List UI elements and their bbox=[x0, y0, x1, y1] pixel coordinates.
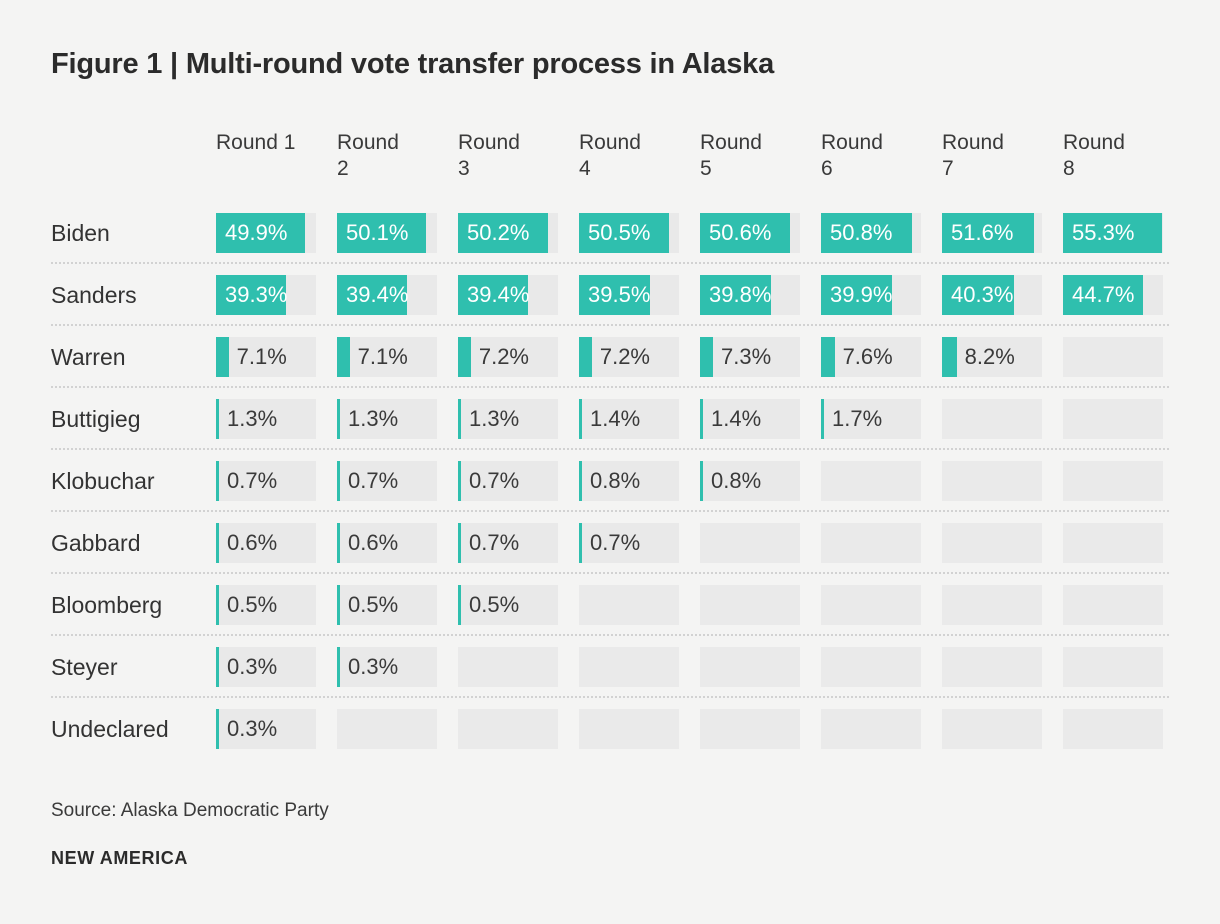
bar-cell: 39.3% bbox=[216, 275, 316, 315]
bar-cell bbox=[821, 523, 921, 563]
bar-fill bbox=[216, 709, 219, 749]
bar-cell bbox=[942, 585, 1042, 625]
table-row: Gabbard0.6%0.6%0.7%0.7% bbox=[51, 512, 1169, 574]
bar-cell: 39.4% bbox=[337, 275, 437, 315]
bar-cell: 8.2% bbox=[942, 337, 1042, 377]
bar-value-label: 49.9% bbox=[216, 213, 287, 253]
bar-value-label: 7.1% bbox=[358, 337, 408, 377]
row-label-sanders: Sanders bbox=[51, 282, 216, 309]
bar-fill bbox=[458, 585, 461, 625]
bar-value-label: 1.7% bbox=[832, 399, 882, 439]
bar-value-label: 50.1% bbox=[337, 213, 408, 253]
row-label-biden: Biden bbox=[51, 220, 216, 247]
bar-cell: 39.4% bbox=[458, 275, 558, 315]
bar-value-label: 50.2% bbox=[458, 213, 529, 253]
bar-fill bbox=[337, 647, 340, 687]
bar-cell bbox=[821, 709, 921, 749]
row-label-klobuchar: Klobuchar bbox=[51, 468, 216, 495]
bar-cell: 50.5% bbox=[579, 213, 679, 253]
bar-cell: 0.7% bbox=[458, 461, 558, 501]
bar-value-label: 39.4% bbox=[337, 275, 408, 315]
bar-cell bbox=[821, 585, 921, 625]
table-row: Warren7.1%7.1%7.2%7.2%7.3%7.6%8.2% bbox=[51, 326, 1169, 388]
bar-fill bbox=[579, 523, 582, 563]
bar-cell: 1.3% bbox=[458, 399, 558, 439]
bar-cell: 0.3% bbox=[216, 647, 316, 687]
bar-cell: 7.1% bbox=[337, 337, 437, 377]
bar-cell bbox=[579, 585, 679, 625]
bar-cell: 0.7% bbox=[458, 523, 558, 563]
column-header-round-1: Round 1 bbox=[216, 130, 316, 156]
bar-value-label: 50.5% bbox=[579, 213, 650, 253]
table-row: Undeclared0.3% bbox=[51, 698, 1169, 760]
column-header-round-2: Round 2 bbox=[337, 130, 437, 182]
bar-value-label: 40.3% bbox=[942, 275, 1013, 315]
bar-cell: 50.1% bbox=[337, 213, 437, 253]
bar-cell: 50.2% bbox=[458, 213, 558, 253]
bar-cell: 7.2% bbox=[579, 337, 679, 377]
bar-cell: 44.7% bbox=[1063, 275, 1163, 315]
bar-fill bbox=[458, 461, 461, 501]
row-label-gabbard: Gabbard bbox=[51, 530, 216, 557]
bar-cell: 7.3% bbox=[700, 337, 800, 377]
row-label-bloomberg: Bloomberg bbox=[51, 592, 216, 619]
bar-value-label: 8.2% bbox=[965, 337, 1015, 377]
bar-value-label: 1.4% bbox=[711, 399, 761, 439]
bar-cell bbox=[942, 647, 1042, 687]
bar-value-label: 55.3% bbox=[1063, 213, 1134, 253]
bar-value-label: 7.3% bbox=[721, 337, 771, 377]
bar-value-label: 0.5% bbox=[227, 585, 277, 625]
bar-cell bbox=[337, 709, 437, 749]
bar-cell: 0.8% bbox=[700, 461, 800, 501]
bar-cell: 1.3% bbox=[216, 399, 316, 439]
column-header-round-4: Round 4 bbox=[579, 130, 679, 182]
table-row: Klobuchar0.7%0.7%0.7%0.8%0.8% bbox=[51, 450, 1169, 512]
bar-cell: 39.5% bbox=[579, 275, 679, 315]
bar-cell bbox=[1063, 461, 1163, 501]
bar-cell bbox=[700, 585, 800, 625]
bar-cell bbox=[942, 523, 1042, 563]
bar-cell bbox=[1063, 337, 1163, 377]
bar-cell: 1.4% bbox=[579, 399, 679, 439]
bar-cell: 0.8% bbox=[579, 461, 679, 501]
bar-cell: 50.6% bbox=[700, 213, 800, 253]
bar-cell: 51.6% bbox=[942, 213, 1042, 253]
bar-fill bbox=[821, 337, 835, 377]
bar-cell bbox=[821, 461, 921, 501]
bar-fill bbox=[216, 399, 219, 439]
bar-cell: 39.9% bbox=[821, 275, 921, 315]
bar-value-label: 7.6% bbox=[843, 337, 893, 377]
row-label-warren: Warren bbox=[51, 344, 216, 371]
bar-cell bbox=[458, 647, 558, 687]
bar-fill bbox=[821, 399, 824, 439]
bar-value-label: 39.4% bbox=[458, 275, 529, 315]
bar-value-label: 50.6% bbox=[700, 213, 771, 253]
bar-cell: 0.5% bbox=[216, 585, 316, 625]
bar-value-label: 0.7% bbox=[227, 461, 277, 501]
bar-fill bbox=[579, 461, 582, 501]
source-note: Source: Alaska Democratic Party bbox=[51, 800, 329, 822]
table-row: Biden49.9%50.1%50.2%50.5%50.6%50.8%51.6%… bbox=[51, 202, 1169, 264]
bar-value-label: 39.9% bbox=[821, 275, 892, 315]
bar-value-label: 0.7% bbox=[590, 523, 640, 563]
table-row: Steyer0.3%0.3% bbox=[51, 636, 1169, 698]
bar-cell: 0.7% bbox=[216, 461, 316, 501]
bar-cell bbox=[458, 709, 558, 749]
bar-fill bbox=[458, 523, 461, 563]
bar-value-label: 0.7% bbox=[348, 461, 398, 501]
bar-cell bbox=[1063, 647, 1163, 687]
bar-value-label: 0.3% bbox=[227, 709, 277, 749]
bar-fill bbox=[579, 399, 582, 439]
bar-fill bbox=[579, 337, 592, 377]
bar-value-label: 39.5% bbox=[579, 275, 650, 315]
bar-cell: 0.7% bbox=[579, 523, 679, 563]
bar-cell bbox=[700, 709, 800, 749]
bar-value-label: 1.3% bbox=[348, 399, 398, 439]
bar-cell: 0.5% bbox=[337, 585, 437, 625]
bar-fill bbox=[700, 461, 703, 501]
column-header-round-7: Round 7 bbox=[942, 130, 1042, 182]
vote-transfer-table: Round 1Round 2Round 3Round 4Round 5Round… bbox=[51, 130, 1169, 760]
bar-cell: 0.6% bbox=[216, 523, 316, 563]
bar-cell bbox=[1063, 523, 1163, 563]
bar-value-label: 39.8% bbox=[700, 275, 771, 315]
bar-value-label: 0.5% bbox=[469, 585, 519, 625]
bar-fill bbox=[942, 337, 957, 377]
bar-value-label: 50.8% bbox=[821, 213, 892, 253]
bar-value-label: 1.3% bbox=[469, 399, 519, 439]
bar-value-label: 7.1% bbox=[237, 337, 287, 377]
column-header-round-3: Round 3 bbox=[458, 130, 558, 182]
bar-cell bbox=[942, 709, 1042, 749]
column-header-round-8: Round 8 bbox=[1063, 130, 1163, 182]
bar-cell: 7.1% bbox=[216, 337, 316, 377]
bar-value-label: 7.2% bbox=[600, 337, 650, 377]
bar-cell bbox=[942, 461, 1042, 501]
bar-fill bbox=[458, 399, 461, 439]
bar-cell bbox=[579, 647, 679, 687]
bar-cell: 0.3% bbox=[216, 709, 316, 749]
bar-fill bbox=[216, 647, 219, 687]
bar-value-label: 0.6% bbox=[227, 523, 277, 563]
bar-fill bbox=[216, 337, 229, 377]
bar-fill bbox=[337, 337, 350, 377]
bar-cell bbox=[1063, 585, 1163, 625]
bar-cell: 0.7% bbox=[337, 461, 437, 501]
table-row: Bloomberg0.5%0.5%0.5% bbox=[51, 574, 1169, 636]
bar-cell: 7.6% bbox=[821, 337, 921, 377]
bar-value-label: 51.6% bbox=[942, 213, 1013, 253]
column-header-round-6: Round 6 bbox=[821, 130, 921, 182]
page-title: Figure 1 | Multi-round vote transfer pro… bbox=[51, 48, 774, 81]
row-label-undeclared: Undeclared bbox=[51, 716, 216, 743]
bar-value-label: 0.3% bbox=[348, 647, 398, 687]
bar-cell bbox=[579, 709, 679, 749]
bar-value-label: 0.8% bbox=[711, 461, 761, 501]
table-row: Sanders39.3%39.4%39.4%39.5%39.8%39.9%40.… bbox=[51, 264, 1169, 326]
table-header-row: Round 1Round 2Round 3Round 4Round 5Round… bbox=[51, 130, 1169, 202]
bar-cell: 1.7% bbox=[821, 399, 921, 439]
bar-cell: 50.8% bbox=[821, 213, 921, 253]
bar-cell: 0.5% bbox=[458, 585, 558, 625]
bar-value-label: 7.2% bbox=[479, 337, 529, 377]
column-header-round-5: Round 5 bbox=[700, 130, 800, 182]
bar-cell: 0.6% bbox=[337, 523, 437, 563]
bar-fill bbox=[216, 585, 219, 625]
bar-value-label: 0.6% bbox=[348, 523, 398, 563]
bar-cell bbox=[821, 647, 921, 687]
bar-fill bbox=[700, 337, 713, 377]
bar-value-label: 39.3% bbox=[216, 275, 287, 315]
bar-value-label: 0.5% bbox=[348, 585, 398, 625]
bar-cell: 39.8% bbox=[700, 275, 800, 315]
bar-cell: 7.2% bbox=[458, 337, 558, 377]
bar-cell: 0.3% bbox=[337, 647, 437, 687]
bar-value-label: 1.3% bbox=[227, 399, 277, 439]
bar-cell: 1.3% bbox=[337, 399, 437, 439]
row-label-buttigieg: Buttigieg bbox=[51, 406, 216, 433]
bar-value-label: 0.3% bbox=[227, 647, 277, 687]
bar-cell: 55.3% bbox=[1063, 213, 1163, 253]
bar-value-label: 0.8% bbox=[590, 461, 640, 501]
bar-value-label: 44.7% bbox=[1063, 275, 1134, 315]
bar-cell bbox=[700, 523, 800, 563]
bar-value-label: 1.4% bbox=[590, 399, 640, 439]
bar-cell: 40.3% bbox=[942, 275, 1042, 315]
bar-fill bbox=[216, 523, 219, 563]
bar-fill bbox=[458, 337, 471, 377]
bar-value-label: 0.7% bbox=[469, 461, 519, 501]
bar-fill bbox=[337, 461, 340, 501]
brand-logo: NEW AMERICA bbox=[51, 848, 188, 869]
bar-cell bbox=[942, 399, 1042, 439]
bar-value-label: 0.7% bbox=[469, 523, 519, 563]
bar-cell bbox=[700, 647, 800, 687]
row-label-steyer: Steyer bbox=[51, 654, 216, 681]
bar-fill bbox=[337, 523, 340, 563]
bar-cell: 1.4% bbox=[700, 399, 800, 439]
bar-cell: 49.9% bbox=[216, 213, 316, 253]
bar-fill bbox=[337, 399, 340, 439]
figure-container: Figure 1 | Multi-round vote transfer pro… bbox=[0, 0, 1220, 924]
bar-cell bbox=[1063, 399, 1163, 439]
bar-fill bbox=[700, 399, 703, 439]
table-row: Buttigieg1.3%1.3%1.3%1.4%1.4%1.7% bbox=[51, 388, 1169, 450]
bar-fill bbox=[337, 585, 340, 625]
bar-fill bbox=[216, 461, 219, 501]
bar-cell bbox=[1063, 709, 1163, 749]
